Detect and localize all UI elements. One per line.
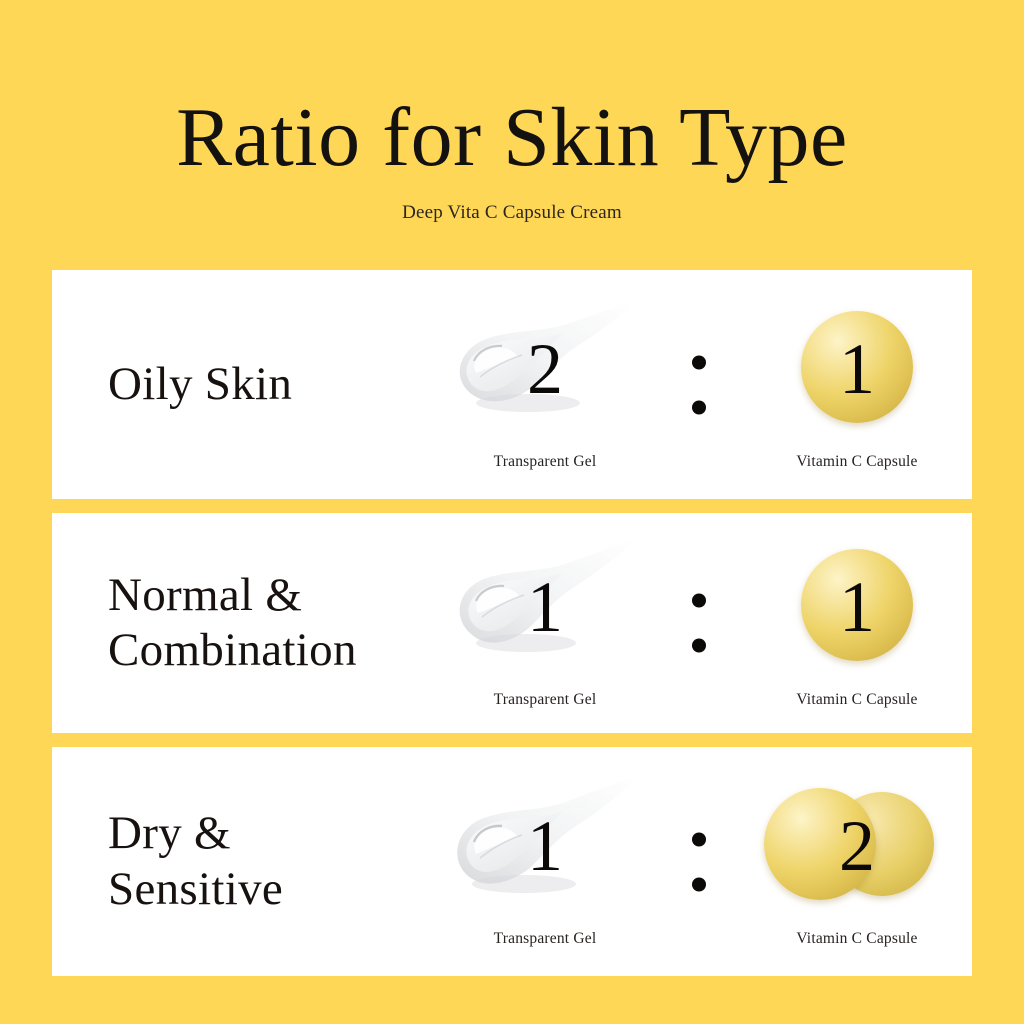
ingredient-transparent-gel: 2 Transparent Gel (420, 270, 670, 499)
gel-visual: 1 (430, 776, 660, 916)
skin-type-label: Normal & Combination (52, 568, 392, 679)
gel-caption: Transparent Gel (494, 930, 597, 948)
colon-dot-top (692, 832, 706, 846)
gel-visual: 2 (430, 299, 660, 439)
colon-dot-bottom (692, 400, 706, 414)
ingredient-vitamin-c-capsule: 2 Vitamin C Capsule (732, 747, 982, 976)
capsule-amount: 1 (839, 333, 875, 405)
page-title: Ratio for Skin Type (0, 0, 1024, 180)
colon-dot-bottom (692, 877, 706, 891)
capsule-caption: Vitamin C Capsule (796, 930, 917, 948)
skin-type-label: Oily Skin (52, 357, 392, 412)
ratio-card-oily-skin[interactable]: Oily Skin (52, 270, 972, 499)
gel-caption: Transparent Gel (494, 691, 597, 709)
colon-dot-bottom (692, 639, 706, 653)
ingredient-vitamin-c-capsule: 1 Vitamin C Capsule (732, 513, 982, 733)
ingredient-transparent-gel: 1 Transparent Gel (420, 747, 670, 976)
capsule-caption: Vitamin C Capsule (796, 453, 917, 471)
ratio-separator (692, 594, 706, 653)
skin-type-label: Dry & Sensitive (52, 806, 392, 917)
page-subtitle: Deep Vita C Capsule Cream (0, 180, 1024, 224)
ratio-area: 2 Transparent Gel 1 Vitamin C Capsule (392, 270, 972, 499)
ingredient-transparent-gel: 1 Transparent Gel (420, 513, 670, 733)
gel-amount: 1 (527, 571, 563, 643)
capsule-visual: 2 (742, 776, 972, 916)
ratio-separator (692, 355, 706, 414)
gel-caption: Transparent Gel (494, 453, 597, 471)
capsule-visual: 1 (742, 537, 972, 677)
gel-amount: 2 (527, 333, 563, 405)
gel-amount: 1 (527, 810, 563, 882)
capsule-caption: Vitamin C Capsule (796, 691, 917, 709)
ratio-separator (692, 832, 706, 891)
colon-dot-top (692, 594, 706, 608)
capsule-amount: 2 (839, 810, 875, 882)
page-header: Ratio for Skin Type Deep Vita C Capsule … (0, 0, 1024, 224)
gel-visual: 1 (430, 537, 660, 677)
capsule-visual: 1 (742, 299, 972, 439)
ratio-card-dry-sensitive[interactable]: Dry & Sensitive (52, 747, 972, 976)
colon-dot-top (692, 355, 706, 369)
ratio-card-list: Oily Skin (52, 270, 972, 990)
ingredient-vitamin-c-capsule: 1 Vitamin C Capsule (732, 270, 982, 499)
ratio-area: 1 Transparent Gel 1 Vitamin C Capsule (392, 513, 972, 733)
ratio-area: 1 Transparent Gel 2 Vitamin C Capsule (392, 747, 972, 976)
ratio-card-normal-combination[interactable]: Normal & Combination (52, 513, 972, 733)
capsule-amount: 1 (839, 571, 875, 643)
